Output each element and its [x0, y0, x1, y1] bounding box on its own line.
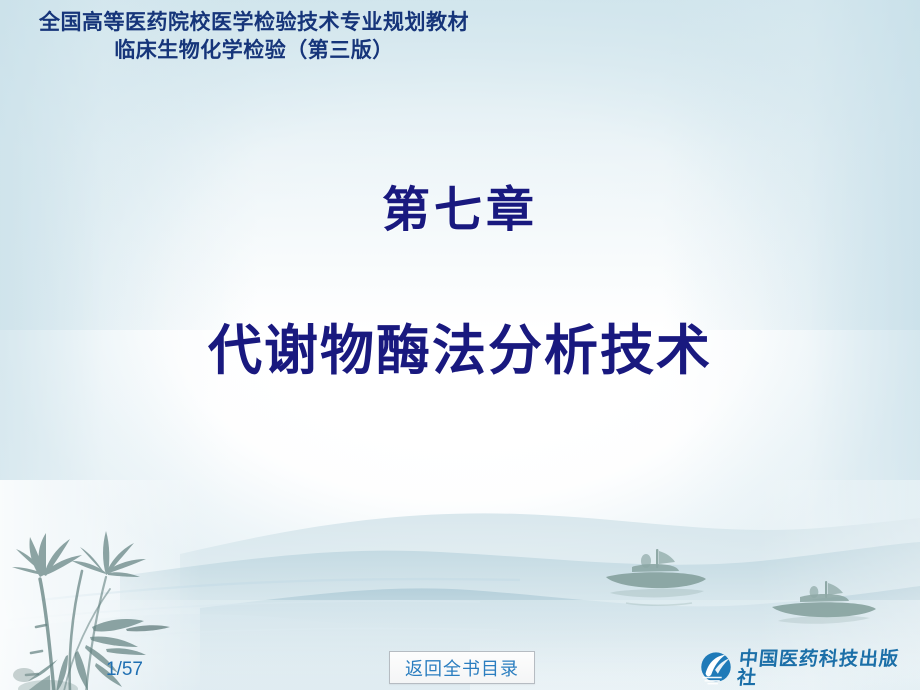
chapter-label: 第七章 — [0, 170, 920, 240]
header-line-series: 全国高等医药院校医学检验技术专业规划教材 — [0, 9, 508, 37]
chapter-title: 代谢物酶法分析技术 — [0, 306, 920, 385]
publisher-logo-icon — [697, 649, 735, 687]
header-line-title: 临床生物化学检验（第三版） — [0, 37, 508, 65]
return-to-toc-label: 返回全书目录 — [405, 655, 519, 681]
page-number: 1/57 — [106, 659, 143, 681]
slide-canvas: 全国高等医药院校医学检验技术专业规划教材 临床生物化学检验（第三版） 第七章 代… — [0, 0, 920, 690]
publisher-name-cn: 中国医药科技出版社 — [736, 650, 914, 688]
publisher-text: 中国医药科技出版社 CHINA MEDICAL SCIENCE PRESS — [738, 649, 912, 690]
publisher-logo: 中国医药科技出版社 CHINA MEDICAL SCIENCE PRESS — [697, 649, 912, 689]
textbook-header: 全国高等医药院校医学检验技术专业规划教材 临床生物化学检验（第三版） — [0, 9, 508, 64]
return-to-toc-button[interactable]: 返回全书目录 — [389, 651, 535, 684]
